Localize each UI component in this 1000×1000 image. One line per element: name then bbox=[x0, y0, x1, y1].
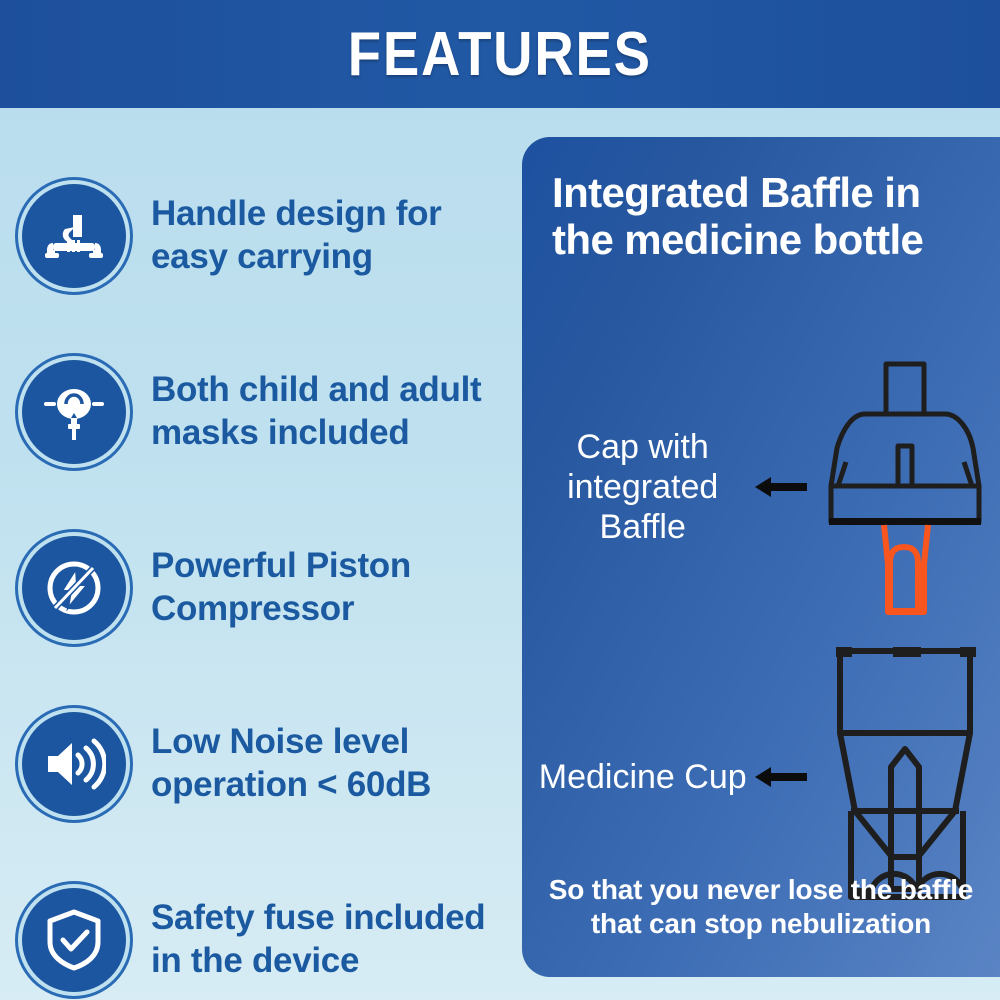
speaker-icon bbox=[22, 712, 126, 816]
feature-label: Handle design for easy carrying bbox=[151, 193, 511, 278]
shield-check-icon bbox=[22, 888, 126, 992]
feature-item-safety-fuse: Safety fuse included in the device bbox=[22, 852, 512, 1000]
feature-item-masks: Both child and adult masks included bbox=[22, 324, 512, 500]
feature-label: Low Noise level operation < 60dB bbox=[151, 721, 511, 806]
cap-row: Cap with integrated Baffle bbox=[534, 352, 1000, 622]
panel-footer-text: So that you never lose the baffle that c… bbox=[538, 873, 984, 941]
handle-icon bbox=[22, 184, 126, 288]
arrow-left-icon bbox=[751, 764, 810, 790]
header-bar: FEATURES bbox=[0, 0, 1000, 108]
feature-item-noise: Low Noise level operation < 60dB bbox=[22, 676, 512, 852]
feature-label: Safety fuse included in the device bbox=[151, 897, 511, 982]
infographic-page: FEATURES bbox=[0, 0, 1000, 1000]
feature-label: Powerful Piston Compressor bbox=[151, 545, 511, 630]
integrated-baffle-panel: Integrated Baffle in the medicine bottle… bbox=[522, 137, 1000, 977]
panel-title: Integrated Baffle in the medicine bottle bbox=[552, 169, 972, 263]
cap-label: Cap with integrated Baffle bbox=[534, 427, 751, 547]
arrow-left-icon bbox=[751, 474, 810, 500]
feature-list: Handle design for easy carrying bbox=[22, 148, 512, 1000]
page-title: FEATURES bbox=[348, 19, 652, 90]
mask-icon bbox=[22, 360, 126, 464]
cup-label: Medicine Cup bbox=[534, 757, 751, 797]
cap-with-baffle-diagram bbox=[810, 358, 1000, 616]
lightning-icon bbox=[22, 536, 126, 640]
feature-item-handle: Handle design for easy carrying bbox=[22, 148, 512, 324]
feature-item-compressor: Powerful Piston Compressor bbox=[22, 500, 512, 676]
medicine-cup-diagram bbox=[810, 643, 1000, 911]
feature-label: Both child and adult masks included bbox=[151, 369, 511, 454]
